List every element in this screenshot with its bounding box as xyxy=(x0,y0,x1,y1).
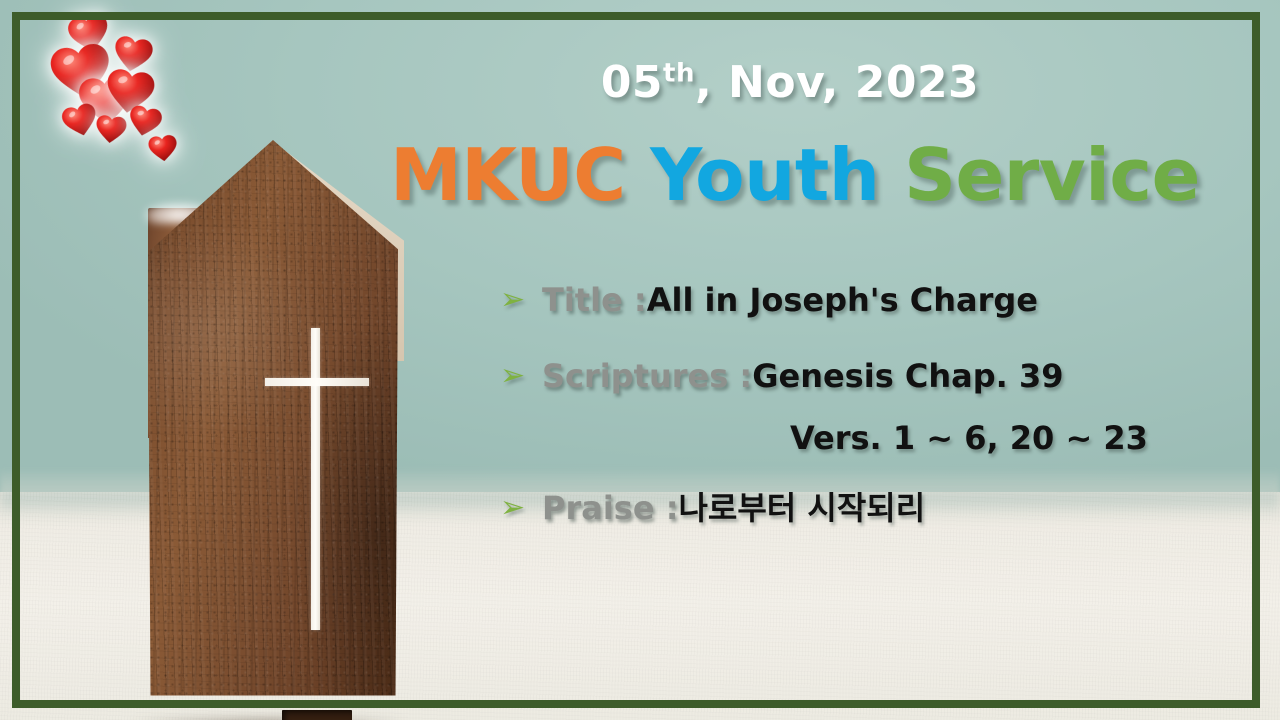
title-part-mkuc: MKUC xyxy=(390,133,650,217)
detail-label: Scriptures : xyxy=(542,354,752,398)
service-details-list: ➢Title : All in Joseph's Charge➢Scriptur… xyxy=(500,278,1260,562)
date-day: 05 xyxy=(601,57,663,108)
chevron-right-icon: ➢ xyxy=(500,354,542,398)
church-body xyxy=(148,140,398,700)
list-item: ➢Title : All in Joseph's Charge xyxy=(500,278,1260,322)
title-part-youth: Youth xyxy=(650,133,904,217)
heart-icon xyxy=(93,111,128,146)
page-title: MKUC Youth Service xyxy=(380,133,1210,217)
church-body-wrap xyxy=(30,118,390,688)
detail-value: 나로부터 시작되리 xyxy=(678,486,925,530)
detail-value-continuation-wrap: Vers. 1 ~ 6, 20 ~ 23 xyxy=(500,416,1260,460)
chevron-right-icon: ➢ xyxy=(500,278,542,322)
church-door xyxy=(282,710,352,720)
cross-icon-vertical xyxy=(311,328,320,630)
date-ordinal-suffix: th xyxy=(663,58,695,88)
chevron-right-icon: ➢ xyxy=(500,486,542,530)
date-rest: , Nov, 2023 xyxy=(695,57,979,108)
slide-canvas: 05th, Nov, 2023 MKUC Youth Service ➢Titl… xyxy=(0,0,1280,720)
detail-value: Genesis Chap. 39 xyxy=(752,354,1063,398)
title-part-service: Service xyxy=(904,133,1200,217)
detail-label: Praise : xyxy=(542,486,678,530)
detail-value-continuation: Vers. 1 ~ 6, 20 ~ 23 xyxy=(790,419,1148,457)
floating-hearts-group xyxy=(0,0,260,200)
service-date: 05th, Nov, 2023 xyxy=(380,57,1200,108)
wood-speckle-texture xyxy=(148,140,398,700)
detail-value: All in Joseph's Charge xyxy=(647,278,1038,322)
list-item: ➢Scriptures : Genesis Chap. 39 xyxy=(500,354,1260,398)
cross-icon-horizontal xyxy=(265,378,369,386)
heart-icon xyxy=(147,132,180,165)
detail-label: Title : xyxy=(542,278,647,322)
list-item: ➢Praise : 나로부터 시작되리 xyxy=(500,486,1260,530)
